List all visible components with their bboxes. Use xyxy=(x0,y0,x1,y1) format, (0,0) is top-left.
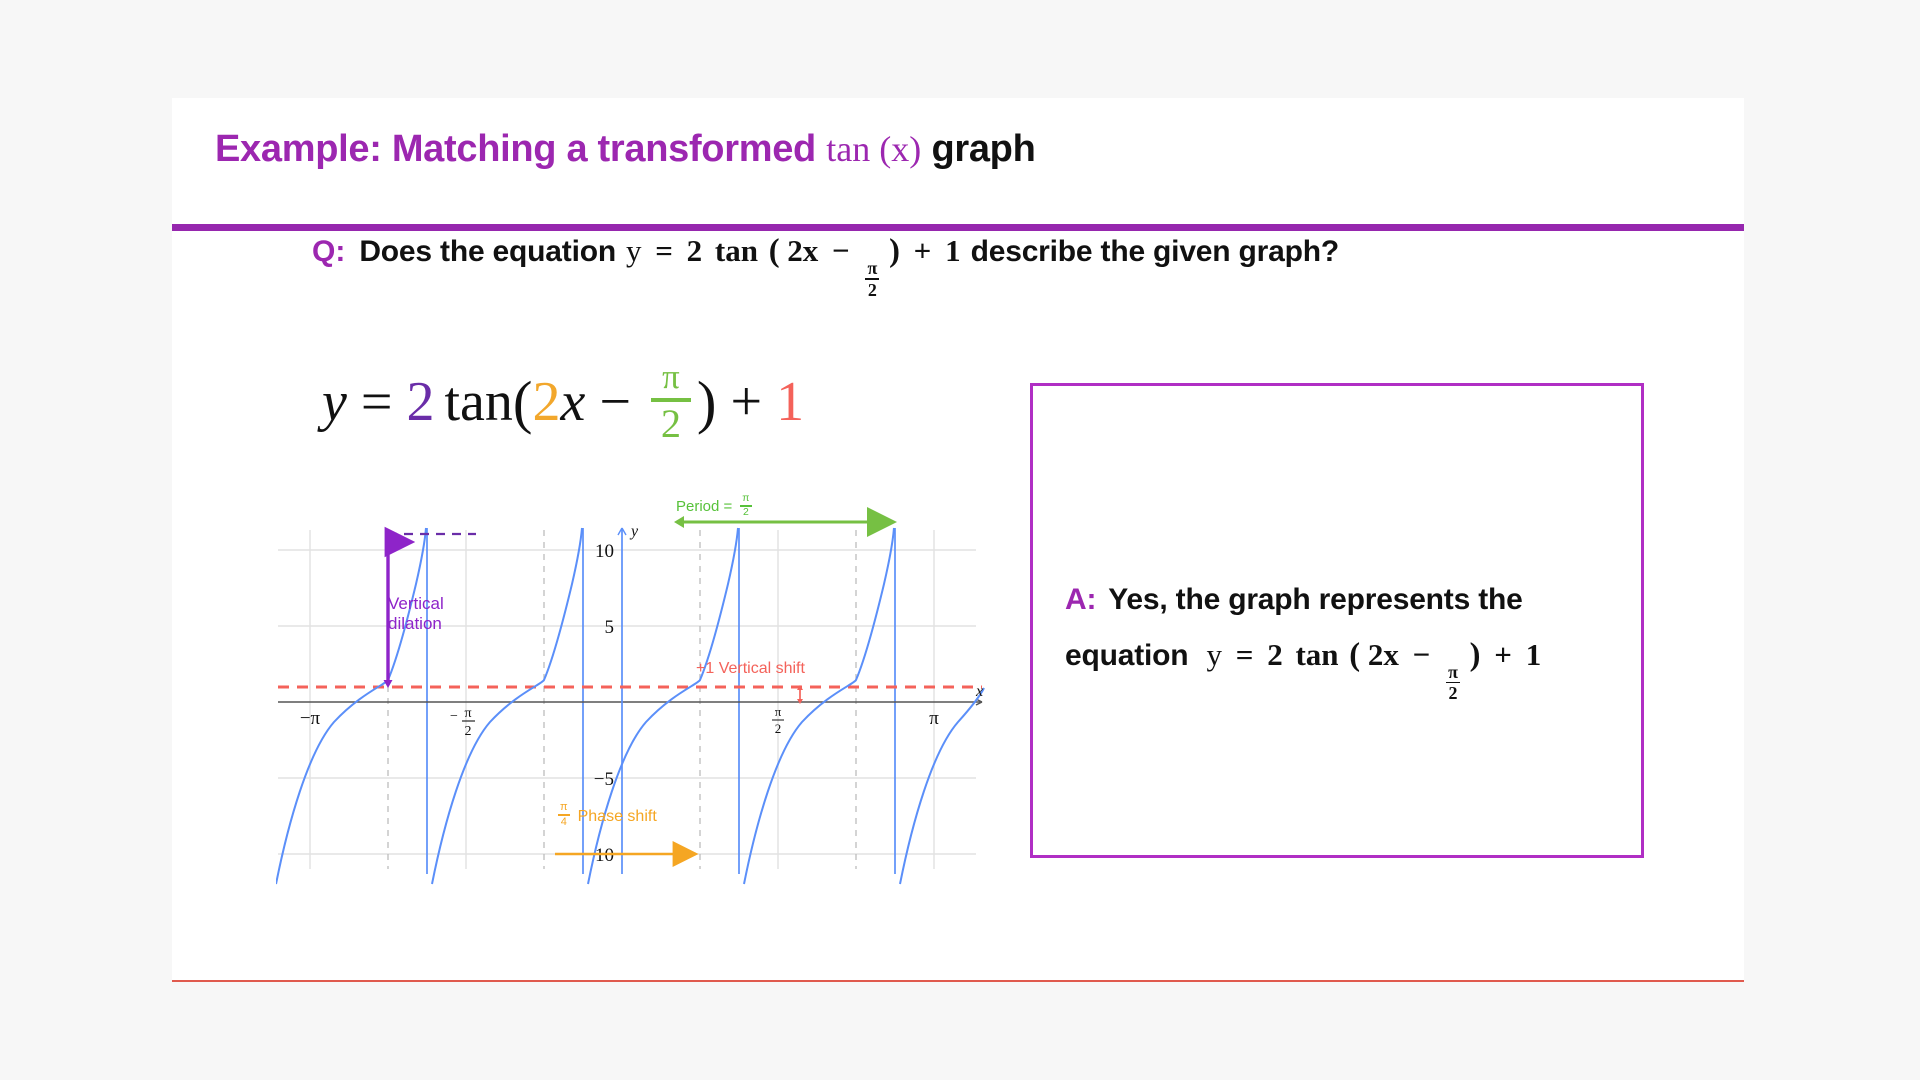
question-marker: Q: xyxy=(312,235,345,269)
vertical-dilation-label: Vertical dilation xyxy=(388,594,444,633)
q-eq-func: tan xyxy=(715,233,758,268)
slide-card: Example: Matching a transformed tan (x) … xyxy=(172,98,1744,982)
question-text-before: Does the equation xyxy=(359,235,616,269)
bigeq-lhs: y xyxy=(322,370,347,434)
q-eq-frac-den: 2 xyxy=(866,280,879,299)
y-tick-5: 5 xyxy=(605,617,615,638)
svg-text:2: 2 xyxy=(775,721,782,736)
q-eq-fraction: π 2 xyxy=(865,259,879,299)
big-equation: y = 2 tan ( 2 x − π 2 ) + 1 xyxy=(322,360,804,444)
vdil-line1: Vertical xyxy=(388,594,444,614)
a-eq-open-paren: ( xyxy=(1349,637,1360,673)
vertical-dilation-arrow-down xyxy=(384,680,393,688)
svg-text:π: π xyxy=(464,706,471,721)
y-tick-neg5: −5 xyxy=(594,769,614,790)
graph-svg: 10 5 −5 −10 −π π − π 2 xyxy=(276,484,1016,934)
title-math-tanx: tan (x) xyxy=(826,129,921,169)
tangent-curves xyxy=(276,528,984,884)
q-eq-minus: − xyxy=(832,233,850,268)
x-tick-pi-over-2: π 2 xyxy=(772,704,784,736)
a-eq-inner-coeff: 2x xyxy=(1368,637,1399,672)
question-text-after: describe the given graph? xyxy=(971,235,1339,269)
vdil-line2: dilation xyxy=(388,614,444,634)
x-tick-neg-pi: −π xyxy=(300,708,321,729)
svg-text:−: − xyxy=(450,709,458,724)
question-equation: y = 2 tan ( 2x − π 2 ) + 1 xyxy=(626,233,961,299)
bigeq-close-paren: ) xyxy=(697,369,717,436)
svg-text:2: 2 xyxy=(465,724,472,739)
x-tick-pi: π xyxy=(929,708,939,729)
a-eq-plus: + xyxy=(1494,637,1512,672)
bigeq-plus: + xyxy=(731,370,763,434)
a-eq-minus: − xyxy=(1413,637,1431,672)
q-eq-coeff: 2 xyxy=(687,233,703,268)
page-title: Example: Matching a transformed tan (x) … xyxy=(215,128,1036,171)
tangent-graph: 10 5 −5 −10 −π π − π 2 xyxy=(276,484,1016,934)
title-trail: graph xyxy=(931,128,1035,170)
bigeq-phase-den: 2 xyxy=(661,402,681,444)
q-eq-shift: 1 xyxy=(945,233,961,268)
phase-fraction: π 4 xyxy=(558,802,570,828)
q-eq-open-paren: ( xyxy=(769,233,780,269)
bigeq-amplitude: 2 xyxy=(406,370,434,434)
a-eq-frac-num: π xyxy=(1446,663,1460,682)
bigeq-equals: = xyxy=(361,370,393,434)
q-eq-frac-num: π xyxy=(865,259,879,278)
answer-line1: Yes, the graph represents the xyxy=(1108,583,1522,616)
bigeq-func: tan xyxy=(444,370,512,434)
q-eq-lhs: y xyxy=(626,233,642,268)
a-eq-func: tan xyxy=(1295,637,1338,672)
period-frac-den: 2 xyxy=(741,507,751,518)
x-tick-neg-pi-over-2: − π 2 xyxy=(450,706,475,739)
period-fraction: π 2 xyxy=(740,494,751,518)
bigeq-phase-fraction: π 2 xyxy=(651,360,691,444)
a-eq-equals: = xyxy=(1236,637,1254,672)
phase-frac-den: 4 xyxy=(559,816,569,828)
answer-text: A:Yes, the graph represents the equation… xyxy=(1065,574,1625,702)
a-eq-shift: 1 xyxy=(1526,637,1542,672)
bigeq-open-paren: ( xyxy=(513,369,533,436)
answer-box: A:Yes, the graph represents the equation… xyxy=(1030,383,1644,858)
answer-marker: A: xyxy=(1065,583,1096,616)
title-lead: Example: Matching a transformed xyxy=(215,128,816,170)
vertical-shift-label: +1 Vertical shift xyxy=(696,660,805,678)
a-eq-frac-den: 2 xyxy=(1447,683,1460,702)
q-eq-inner-coeff: 2x xyxy=(787,233,818,268)
bigeq-phase-num: π xyxy=(662,360,680,398)
a-eq-fraction: π 2 xyxy=(1446,663,1460,703)
phase-frac-num: π xyxy=(558,802,570,814)
bigeq-vshift: 1 xyxy=(776,370,804,434)
question-row: Q: Does the equation y = 2 tan ( 2x − π … xyxy=(312,233,1339,299)
answer-line2: equation xyxy=(1065,639,1188,672)
x-tick-labels: −π π xyxy=(300,708,939,729)
phase-shift-label: π 4 Phase shift xyxy=(556,802,657,828)
svg-text:π: π xyxy=(775,704,782,719)
y-tick-10: 10 xyxy=(595,541,614,562)
slide-stage: Example: Matching a transformed tan (x) … xyxy=(0,0,1920,1080)
period-label: Period = π 2 xyxy=(676,494,754,518)
period-text: Period = xyxy=(676,498,732,515)
bigeq-variable: x xyxy=(560,370,585,434)
q-eq-close-paren: ) xyxy=(889,233,900,269)
y-axis-label: y xyxy=(629,523,639,540)
q-eq-plus: + xyxy=(914,233,932,268)
y-tick-neg10: −10 xyxy=(584,845,614,866)
a-eq-close-paren: ) xyxy=(1470,637,1481,673)
a-eq-lhs: y xyxy=(1207,637,1223,672)
x-axis-label: x xyxy=(975,683,983,700)
q-eq-equals: = xyxy=(655,233,673,268)
title-divider xyxy=(172,224,1744,231)
a-eq-coeff: 2 xyxy=(1267,637,1283,672)
answer-equation: y = 2 tan ( 2x − π 2 ) + 1 xyxy=(1207,637,1542,672)
period-frac-num: π xyxy=(740,494,751,505)
bigeq-minus: − xyxy=(599,370,631,434)
bigeq-b-coeff: 2 xyxy=(532,370,560,434)
phase-shift-text: Phase shift xyxy=(578,802,657,826)
